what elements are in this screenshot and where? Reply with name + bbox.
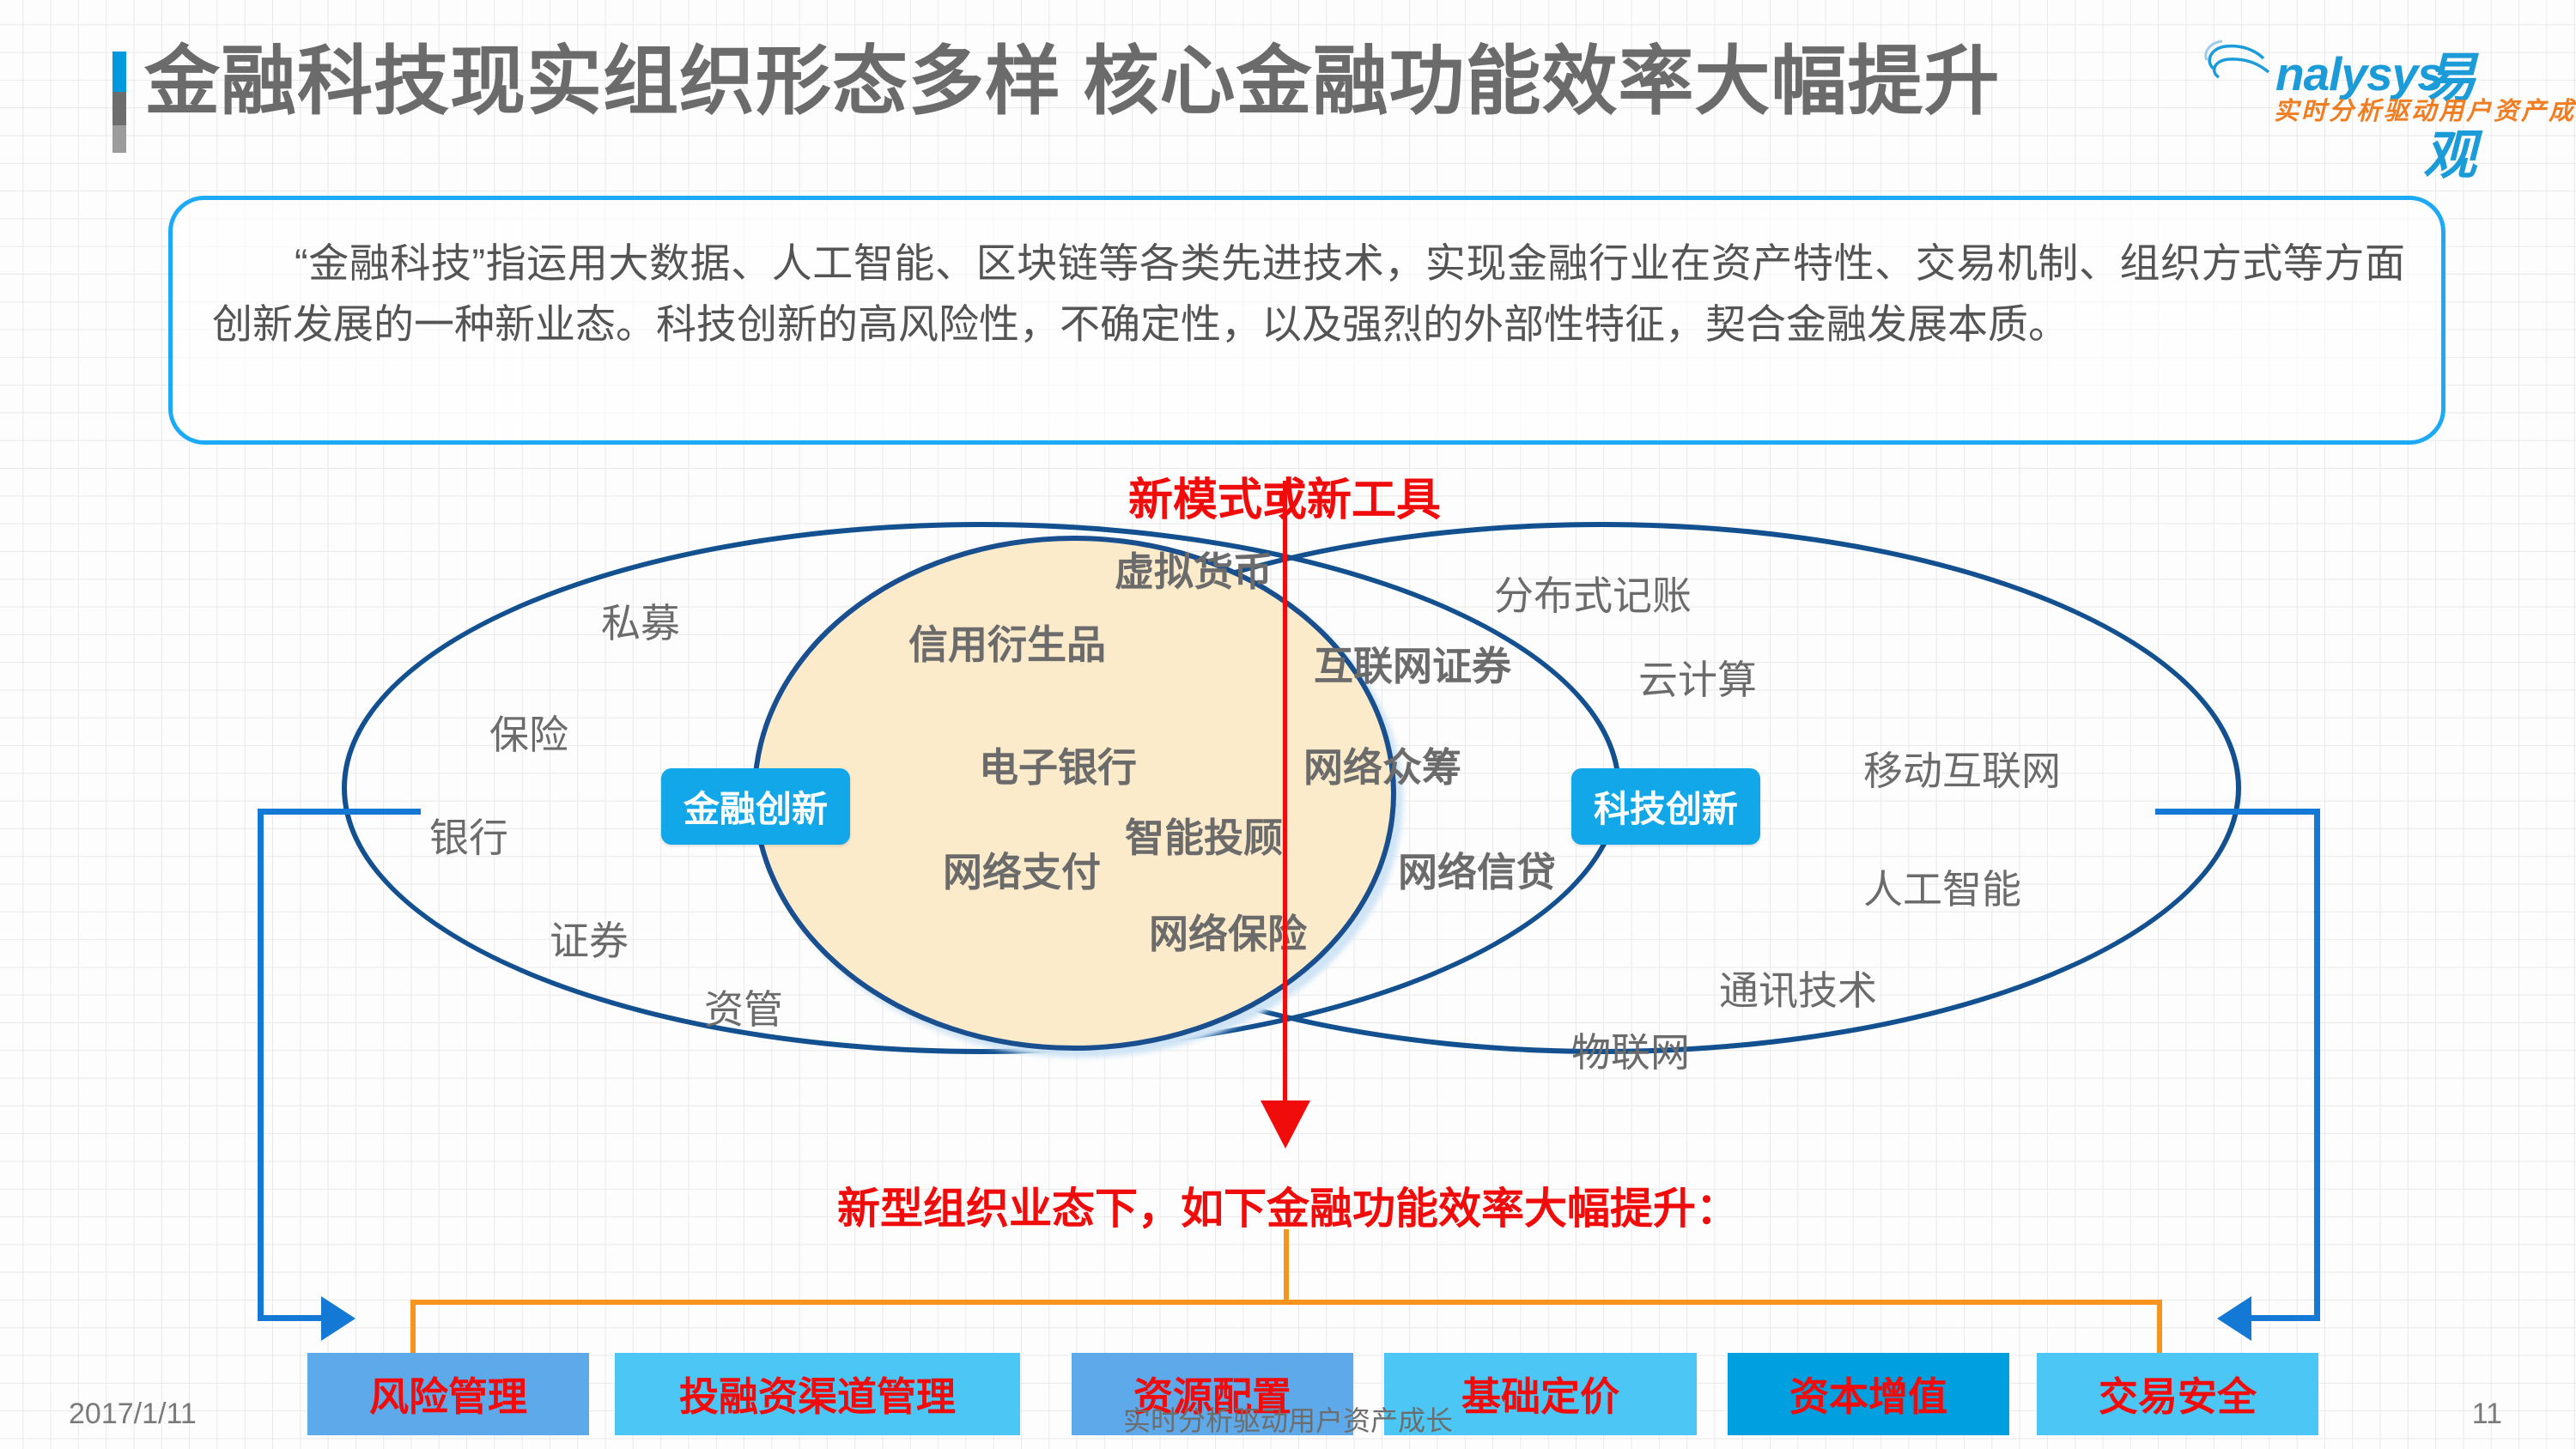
fintech-label-7: 网络信贷 [1398,841,1556,898]
footer-tagline: 实时分析驱动用户资产成长 [0,1399,2576,1439]
accent-segment-blue [112,52,126,92]
technology-label-0: 分布式记账 [1494,565,1692,621]
description-box: “金融科技”指运用大数据、人工智能、区块链等各类先进技术，实现金融行业在资产特性… [168,196,2445,445]
left-bracket-top [258,809,421,815]
orange-bracket-stem [1284,1229,1289,1305]
fintech-label-5: 智能投顾 [1125,807,1283,864]
technology-label-1: 云计算 [1638,649,1757,706]
financial-label-3: 证券 [550,910,629,967]
left-bracket-stem [258,809,264,1321]
financial-label-2: 银行 [429,807,508,864]
technology-label-2: 移动互联网 [1863,740,2061,797]
technology-label-4: 通讯技术 [1719,960,1877,1016]
orange-bracket-bar [410,1300,2162,1305]
fintech-label-6: 网络支付 [943,841,1101,898]
accent-segment-dark [112,92,126,125]
page-title: 金融科技现实组织形态多样 核心金融功能效率大幅提升 [144,34,2000,129]
title-accent-bar [112,52,126,153]
accent-segment-light [112,125,126,153]
footer-page-number: 11 [2472,1397,2502,1431]
right-bracket-bottom [2250,1315,2320,1321]
financial-label-4: 资管 [704,979,783,1035]
slide-canvas: 金融科技现实组织形态多样 核心金融功能效率大幅提升 nalysys 易 观 实时… [0,0,2576,1449]
technology-label-3: 人工智能 [1863,858,2021,915]
fintech-label-1: 信用衍生品 [908,614,1106,670]
badge-technology-innovation[interactable]: 科技创新 [1571,768,1760,845]
logo-tagline: 实时分析驱动用户资产成长 [2274,91,2576,127]
fintech-label-3: 电子银行 [979,737,1137,793]
description-text: “金融科技”指运用大数据、人工智能、区块链等各类先进技术，实现金融行业在资产特性… [212,233,2405,355]
fintech-label-0: 虚拟货币 [1115,541,1273,597]
left-bracket-arrowhead [321,1296,355,1341]
venn-diagram: 私募保险银行证券资管 分布式记账云计算移动互联网人工智能通讯技术物联网 虚拟货币… [0,464,2576,1167]
fintech-label-2: 互联网证券 [1314,635,1511,692]
analysys-logo: nalysys 易 观 实时分析驱动用户资产成长 [2202,29,2545,125]
left-bracket-bottom [258,1315,326,1321]
right-bracket-top [2155,809,2320,815]
technology-label-5: 物联网 [1571,1022,1690,1078]
fintech-label-4: 网络众筹 [1303,737,1461,793]
right-bracket-arrowhead [2217,1296,2251,1341]
financial-label-0: 私募 [601,592,680,649]
bottom-headline: 新型组织业态下，如下金融功能效率大幅提升： [0,1174,2576,1236]
right-bracket-stem [2314,809,2320,1321]
red-arrow-head [1261,1100,1310,1149]
badge-financial-innovation[interactable]: 金融创新 [661,768,850,845]
financial-label-1: 保险 [489,704,568,761]
red-arrow-shaft [1283,481,1287,1116]
